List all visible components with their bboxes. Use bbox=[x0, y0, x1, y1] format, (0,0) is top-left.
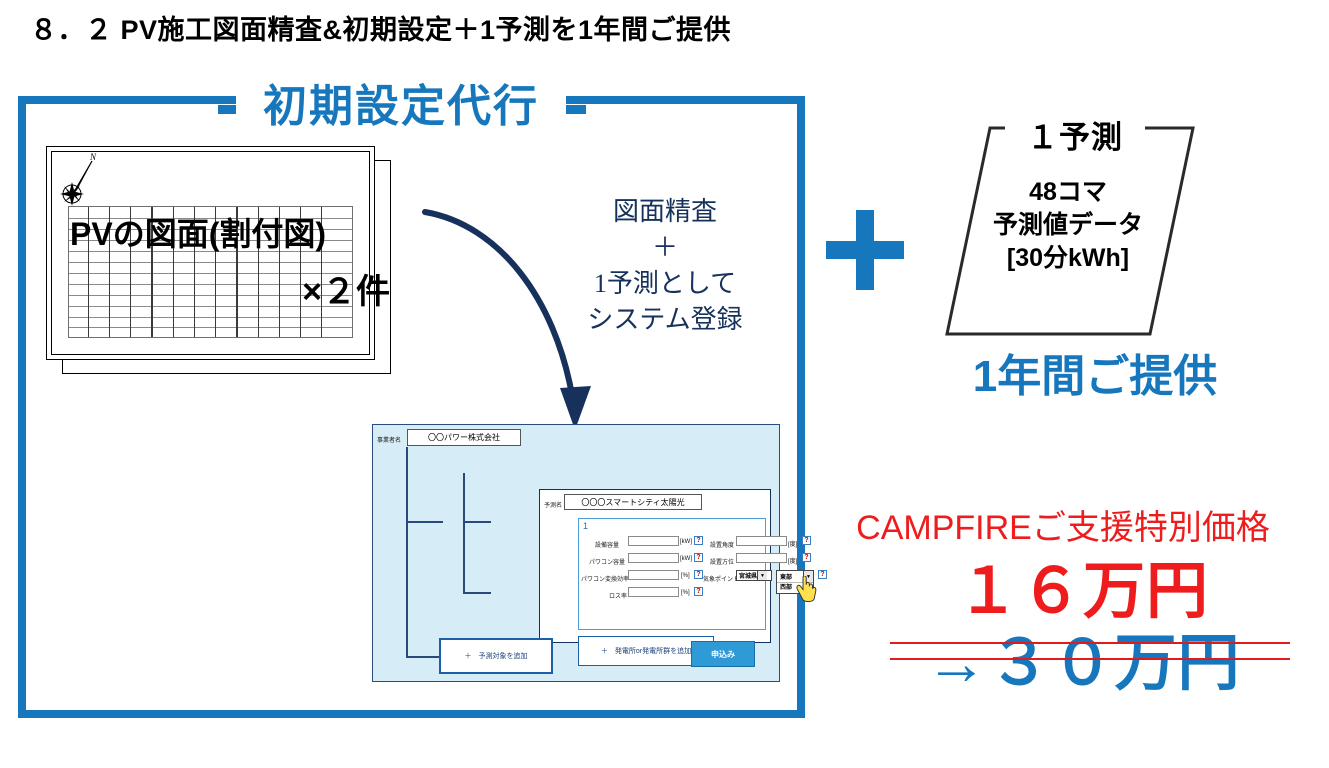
compass-north-label: N bbox=[89, 152, 97, 162]
strikethrough-line-top bbox=[890, 642, 1290, 644]
help-icon-pcs-efficiency[interactable]: ? bbox=[694, 570, 703, 579]
plant-unit-panel: 1 設備容量 [kW] ? パワコン容量 [kW] ? パワコン変換効率 [%]… bbox=[578, 518, 766, 630]
chevron-down-icon[interactable]: ▼ bbox=[757, 571, 767, 580]
field-unit-azimuth: [度] bbox=[788, 556, 797, 565]
forecast-card-body: 48コマ 予測値データ [30分kWh] bbox=[958, 176, 1178, 275]
weather-point-label: 気象ポイント bbox=[703, 574, 739, 583]
year-provide-text: 1年間ご提供 bbox=[905, 340, 1285, 404]
app-screenshot: 事業者名 〇〇パワー株式会社 予測名 〇〇〇スマートシティ太陽光 1 設備容量 … bbox=[372, 424, 780, 682]
operator-label: 事業者名 bbox=[377, 435, 401, 444]
tree-line-h-to-panel bbox=[406, 521, 443, 523]
plus-icon bbox=[826, 210, 904, 290]
field-input-capacity[interactable] bbox=[628, 536, 679, 546]
hand-cursor-icon bbox=[795, 576, 819, 603]
operator-value-field[interactable]: 〇〇パワー株式会社 bbox=[407, 429, 521, 446]
price-original: →３０万円 bbox=[868, 612, 1298, 702]
weather-prefecture-select[interactable]: 宮城県 ▼ bbox=[736, 570, 772, 581]
field-unit-capacity: [kW] bbox=[680, 539, 692, 545]
field-input-pcs-efficiency[interactable] bbox=[628, 570, 679, 580]
help-icon-weather[interactable]: ? bbox=[818, 570, 827, 579]
help-icon-azimuth[interactable]: ? bbox=[802, 553, 811, 562]
field-label-loss-rate: ロス率 bbox=[609, 591, 627, 600]
help-icon-pcs-capacity[interactable]: ? bbox=[694, 553, 703, 562]
price-original-wrapper: →３０万円 bbox=[868, 612, 1298, 692]
field-label-pcs-efficiency: パワコン変換効率 bbox=[581, 574, 629, 583]
help-icon-tilt-angle[interactable]: ? bbox=[802, 536, 811, 545]
field-input-pcs-capacity[interactable] bbox=[628, 553, 679, 563]
forecast-card-line-2: 予測値データ bbox=[958, 209, 1178, 242]
tree-line-v-main bbox=[406, 447, 408, 657]
forecast-card-line-1: 48コマ bbox=[958, 176, 1178, 209]
tree-line-v-sub bbox=[463, 473, 465, 593]
field-unit-tilt-angle: [度] bbox=[788, 539, 797, 548]
tree-line-h-to-addtarget bbox=[406, 656, 439, 658]
field-unit-pcs-capacity: [kW] bbox=[680, 556, 692, 562]
help-icon-capacity[interactable]: ? bbox=[694, 536, 703, 545]
field-label-azimuth: 設置方位 bbox=[710, 557, 734, 566]
curved-arrow-icon bbox=[405, 190, 615, 440]
forecast-card-line-3: [30分kWh] bbox=[958, 242, 1178, 275]
unit-number: 1 bbox=[583, 521, 588, 531]
page-title: ８．２ PV施工図面精査&初期設定＋1予測を1年間ご提供 bbox=[30, 8, 731, 47]
field-unit-loss-rate: [%] bbox=[681, 590, 690, 596]
field-label-capacity: 設備容量 bbox=[595, 540, 619, 549]
tree-line-h-sub-unit bbox=[463, 521, 491, 523]
field-input-tilt-angle[interactable] bbox=[736, 536, 787, 546]
forecast-label: 予測名 bbox=[544, 500, 562, 509]
forecast-card-title: １予測 bbox=[1005, 118, 1145, 158]
field-input-azimuth[interactable] bbox=[736, 553, 787, 563]
field-label-pcs-capacity: パワコン容量 bbox=[589, 557, 625, 566]
help-icon-loss-rate[interactable]: ? bbox=[694, 587, 703, 596]
pv-drawing-count: ×２件 bbox=[70, 264, 390, 313]
weather-prefecture-value: 宮城県 bbox=[739, 571, 757, 580]
field-input-loss-rate[interactable] bbox=[628, 587, 679, 597]
box-title: 初期設定代行 bbox=[236, 82, 566, 132]
add-forecast-target-button[interactable]: ＋ 予測対象を追加 bbox=[439, 638, 553, 674]
forecast-panel: 予測名 〇〇〇スマートシティ太陽光 1 設備容量 [kW] ? パワコン容量 [… bbox=[539, 489, 771, 643]
forecast-value-field[interactable]: 〇〇〇スマートシティ太陽光 bbox=[564, 494, 702, 510]
tree-line-h-sub-addplant bbox=[463, 592, 491, 594]
field-unit-pcs-efficiency: [%] bbox=[681, 573, 690, 579]
submit-button[interactable]: 申込み bbox=[691, 641, 755, 667]
field-label-tilt-angle: 設置角度 bbox=[710, 540, 734, 549]
pv-drawing-caption: PVの図面(割付図) bbox=[70, 218, 370, 252]
strikethrough-line-bottom bbox=[890, 658, 1290, 660]
compass-rose-icon: N bbox=[52, 148, 112, 212]
weather-area-selected: 東部 bbox=[777, 572, 792, 581]
